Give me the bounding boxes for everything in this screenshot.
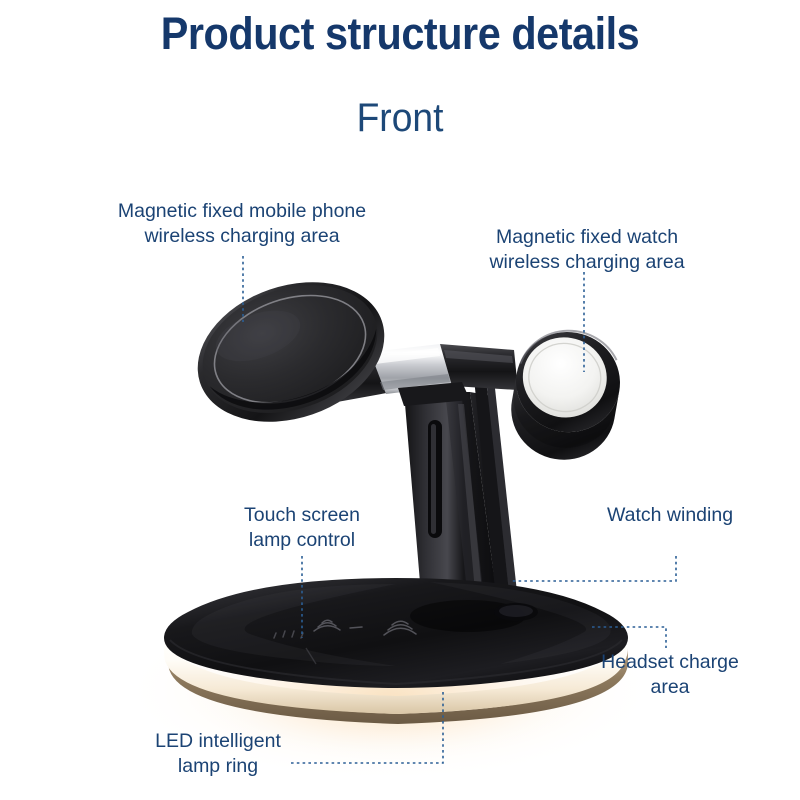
- charging-base: [164, 578, 628, 724]
- phone-charging-disc: [179, 258, 404, 445]
- callout-label-touch-screen-lamp-control: Touch screen lamp control: [192, 503, 412, 553]
- callout-label-phone: Magnetic fixed mobile phone wireless cha…: [62, 199, 422, 249]
- callout-label-headset-charge-area: Headset charge area: [570, 650, 770, 700]
- callout-label-watch: Magnetic fixed watch wireless charging a…: [452, 225, 722, 275]
- callout-label-watch-winding: Watch winding: [560, 503, 780, 528]
- watch-charging-puck: [503, 322, 628, 468]
- dash-icon: [350, 627, 362, 628]
- callout-label-led-lamp-ring: LED intelligent lamp ring: [108, 729, 328, 779]
- product-diagram: Product structure details Front: [0, 0, 800, 800]
